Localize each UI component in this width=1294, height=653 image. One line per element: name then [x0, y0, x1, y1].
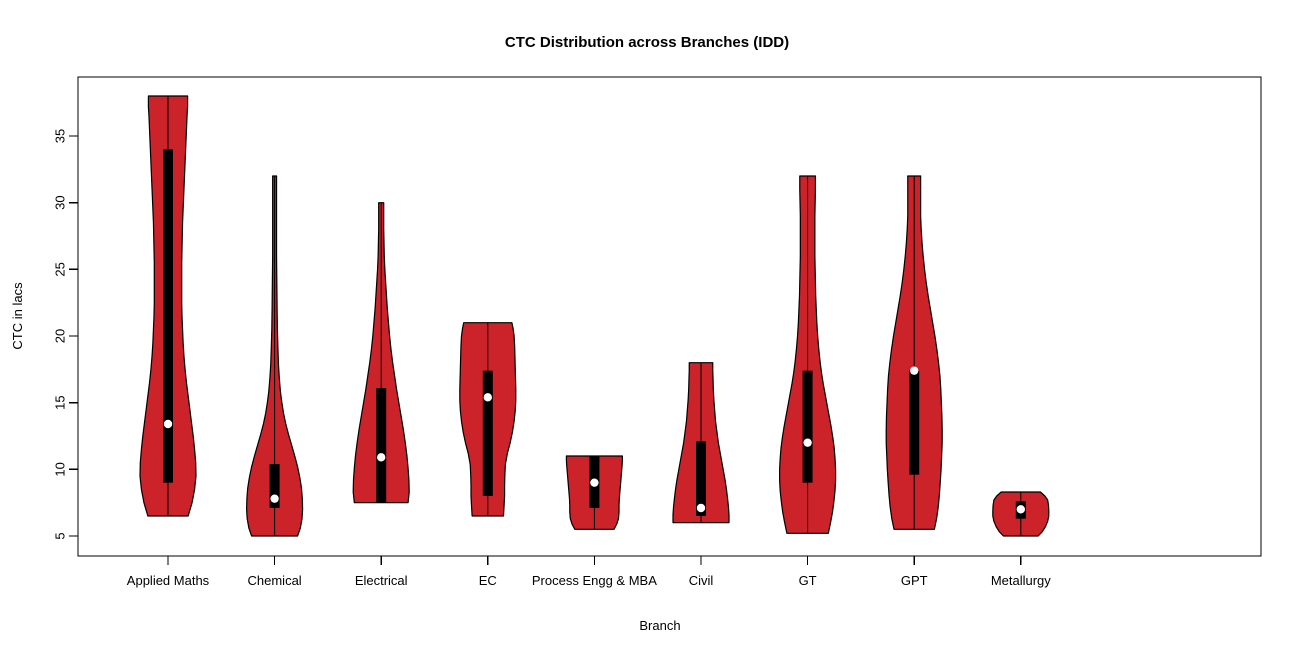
x-tick-label-electrical: Electrical	[355, 573, 408, 588]
violin-median-point	[484, 393, 492, 401]
violin-median-point	[803, 438, 811, 446]
y-tick-label: 30	[52, 195, 67, 209]
figure-background	[0, 0, 1294, 653]
violin-plot-figure: CTC Distribution across Branches (IDD) C…	[0, 0, 1294, 653]
x-tick-label-chemical: Chemical	[248, 573, 302, 588]
y-axis-title: CTC in lacs	[10, 282, 25, 350]
violin-iqr-box	[163, 149, 173, 482]
x-tick-label-civil: Civil	[689, 573, 714, 588]
x-tick-label-gpt: GPT	[901, 573, 928, 588]
x-tick-label-applied-maths: Applied Maths	[127, 573, 210, 588]
x-axis-title: Branch	[639, 618, 680, 633]
violin-median-point	[910, 366, 918, 374]
x-tick-label-process-engg-mba: Process Engg & MBA	[532, 573, 657, 588]
violin-iqr-box	[909, 371, 919, 475]
x-tick-label-gt: GT	[799, 573, 817, 588]
violin-median-point	[164, 420, 172, 428]
x-tick-label-ec: EC	[479, 573, 497, 588]
violin-median-point	[377, 453, 385, 461]
y-tick-label: 5	[52, 532, 67, 539]
violin-iqr-box	[803, 371, 813, 483]
y-tick-label: 15	[52, 395, 67, 409]
violin-iqr-box	[376, 388, 386, 503]
y-tick-label: 35	[52, 129, 67, 143]
violin-median-point	[270, 494, 278, 502]
violin-median-point	[590, 478, 598, 486]
y-tick-label: 10	[52, 462, 67, 476]
y-tick-label: 25	[52, 262, 67, 276]
violin-process-engg-mba[interactable]	[566, 456, 622, 529]
violin-iqr-box	[483, 371, 493, 496]
violin-median-point	[1017, 505, 1025, 513]
violin-plot-canvas: CTC Distribution across Branches (IDD) C…	[0, 0, 1294, 653]
x-tick-label-metallurgy: Metallurgy	[991, 573, 1051, 588]
y-tick-label: 20	[52, 329, 67, 343]
violin-median-point	[697, 504, 705, 512]
violin-metallurgy[interactable]	[993, 492, 1049, 536]
chart-title: CTC Distribution across Branches (IDD)	[505, 34, 789, 51]
